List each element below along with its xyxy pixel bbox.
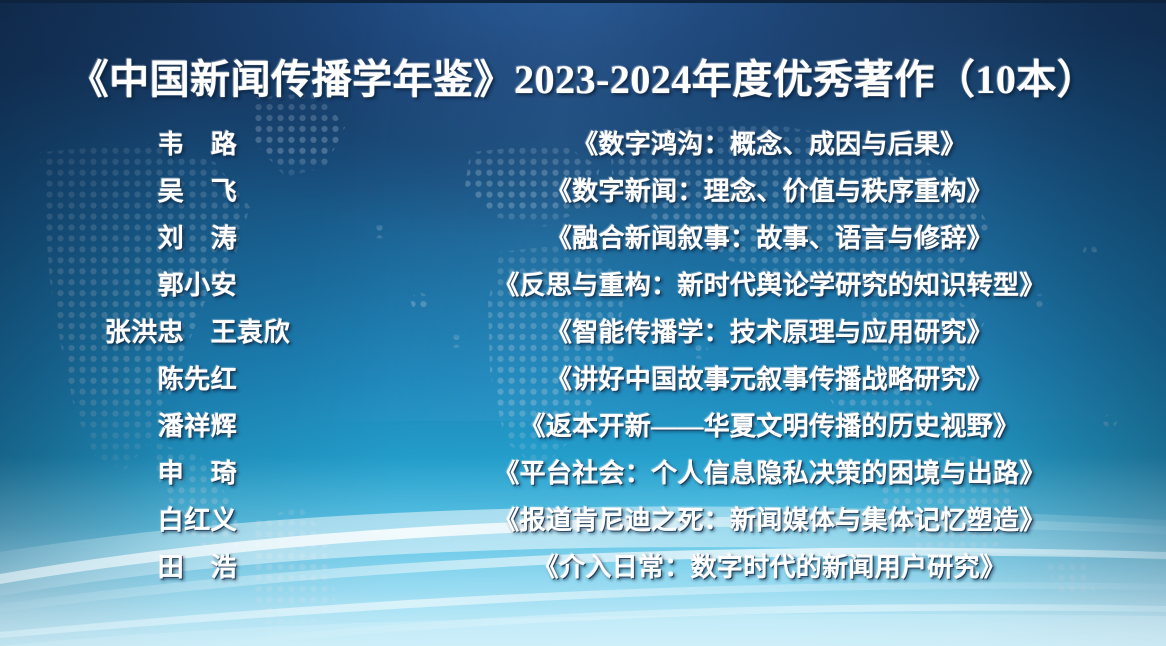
book-title: 《数字新闻：理念、价值与秩序重构》 [395,171,1166,208]
book-title: 《反思与重构：新时代舆论学研究的知识转型》 [395,265,1166,302]
list-item: 田 浩 《介入日常：数字时代的新闻用户研究》 [0,542,1166,589]
author-name: 陈先红 [0,359,395,396]
author-name: 田 浩 [0,547,395,584]
book-list: 韦 路 《数字鸿沟：概念、成因与后果》 吴 飞 《数字新闻：理念、价值与秩序重构… [0,119,1166,589]
author-name: 张洪忠 王袁欣 [0,312,395,349]
book-title: 《智能传播学：技术原理与应用研究》 [395,312,1166,349]
list-item: 韦 路 《数字鸿沟：概念、成因与后果》 [0,119,1166,166]
book-title: 《返本开新——华夏文明传播的历史视野》 [395,406,1166,443]
page-title: 《中国新闻传播学年鉴》2023-2024年度优秀著作（10本） [0,47,1166,105]
presentation-slide: 《中国新闻传播学年鉴》2023-2024年度优秀著作（10本） 韦 路 《数字鸿… [0,0,1166,646]
book-title: 《数字鸿沟：概念、成因与后果》 [395,124,1166,161]
author-name: 韦 路 [0,124,395,161]
book-title: 《讲好中国故事元叙事传播战略研究》 [395,359,1166,396]
author-name: 申 琦 [0,453,395,490]
author-name: 潘祥辉 [0,406,395,443]
list-item: 陈先红 《讲好中国故事元叙事传播战略研究》 [0,354,1166,401]
author-name: 白红义 [0,500,395,537]
author-name: 刘 涛 [0,218,395,255]
slide-content: 《中国新闻传播学年鉴》2023-2024年度优秀著作（10本） 韦 路 《数字鸿… [0,3,1166,646]
author-name: 吴 飞 [0,171,395,208]
book-title: 《报道肯尼迪之死：新闻媒体与集体记忆塑造》 [395,500,1166,537]
list-item: 刘 涛 《融合新闻叙事：故事、语言与修辞》 [0,213,1166,260]
list-item: 张洪忠 王袁欣 《智能传播学：技术原理与应用研究》 [0,307,1166,354]
list-item: 白红义 《报道肯尼迪之死：新闻媒体与集体记忆塑造》 [0,495,1166,542]
author-name: 郭小安 [0,265,395,302]
book-title: 《介入日常：数字时代的新闻用户研究》 [395,547,1166,584]
list-item: 郭小安 《反思与重构：新时代舆论学研究的知识转型》 [0,260,1166,307]
list-item: 申 琦 《平台社会：个人信息隐私决策的困境与出路》 [0,448,1166,495]
book-title: 《平台社会：个人信息隐私决策的困境与出路》 [395,453,1166,490]
list-item: 吴 飞 《数字新闻：理念、价值与秩序重构》 [0,166,1166,213]
list-item: 潘祥辉 《返本开新——华夏文明传播的历史视野》 [0,401,1166,448]
book-title: 《融合新闻叙事：故事、语言与修辞》 [395,218,1166,255]
